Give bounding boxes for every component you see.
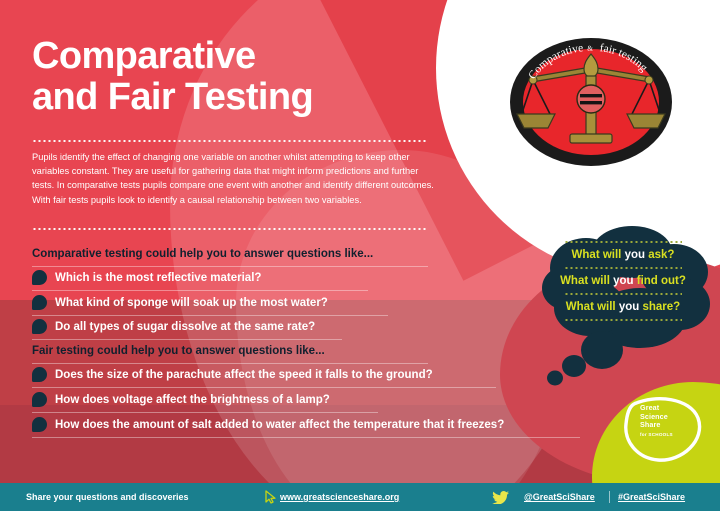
divider-bottom bbox=[32, 228, 428, 230]
list-item: Which is the most reflective material? bbox=[32, 270, 261, 285]
list-item: What kind of sponge will soak up the mos… bbox=[32, 295, 328, 310]
logo-line-3: Share bbox=[640, 421, 673, 430]
logo-text: Great Science Share for SCHOOLS bbox=[640, 404, 673, 439]
list-item: How does the amount of salt added to wat… bbox=[32, 417, 504, 432]
badge-text-amp: & bbox=[587, 44, 593, 53]
footer-share-text: Share your questions and discoveries bbox=[26, 492, 189, 502]
cursor-icon bbox=[265, 490, 277, 504]
list-item: Does the size of the parachute affect th… bbox=[32, 367, 433, 382]
question-rule bbox=[32, 266, 428, 267]
bubble-line-1-post: ask? bbox=[645, 249, 674, 261]
speech-bubble-icon bbox=[32, 367, 47, 382]
logo-subtitle: for SCHOOLS bbox=[640, 431, 673, 440]
bubble-line-2-pre: What will bbox=[560, 275, 613, 287]
bubble-divider bbox=[564, 267, 682, 269]
poster-canvas: Comparative & fair testing Comparative a… bbox=[0, 0, 720, 511]
bubble-line-1: What will you ask? bbox=[540, 244, 706, 266]
thought-bubble-text: What will you ask? What will you find ou… bbox=[540, 226, 706, 322]
title-line-2: and Fair Testing bbox=[32, 77, 452, 118]
twitter-handle-link[interactable]: @GreatSciShare bbox=[524, 492, 595, 502]
question-rule bbox=[32, 315, 388, 316]
fair-testing-heading: Fair testing could help you to answer qu… bbox=[32, 345, 325, 357]
bubble-divider bbox=[564, 293, 682, 295]
speech-bubble-icon bbox=[32, 319, 47, 334]
bubble-line-3-you: you bbox=[619, 301, 639, 313]
balance-scale-icon: Comparative & fair testing bbox=[508, 36, 674, 168]
speech-bubble-icon bbox=[32, 270, 47, 285]
question-text: Does the size of the parachute affect th… bbox=[55, 369, 433, 381]
question-text: Which is the most reflective material? bbox=[55, 272, 261, 284]
list-item: How does voltage affect the brightness o… bbox=[32, 392, 330, 407]
thought-bubble: What will you ask? What will you find ou… bbox=[540, 226, 720, 391]
question-rule bbox=[32, 290, 368, 291]
question-rule bbox=[32, 363, 428, 364]
list-item: Do all types of sugar dissolve at the sa… bbox=[32, 319, 315, 334]
bubble-line-3-post: share? bbox=[639, 301, 680, 313]
page-title: Comparative and Fair Testing bbox=[32, 36, 452, 118]
question-text: Do all types of sugar dissolve at the sa… bbox=[55, 321, 315, 333]
question-text: How does the amount of salt added to wat… bbox=[55, 419, 504, 431]
bubble-line-2-you: you bbox=[613, 275, 633, 287]
question-rule bbox=[32, 387, 496, 388]
question-text: What kind of sponge will soak up the mos… bbox=[55, 297, 328, 309]
footer-bar: Share your questions and discoveries www… bbox=[0, 483, 720, 511]
bubble-line-1-pre: What will bbox=[572, 249, 625, 261]
bubble-line-1-you: you bbox=[625, 249, 645, 261]
title-line-1: Comparative bbox=[32, 36, 452, 77]
question-rule bbox=[32, 412, 378, 413]
speech-bubble-icon bbox=[32, 392, 47, 407]
question-rule bbox=[32, 339, 342, 340]
svg-text:&: & bbox=[587, 44, 593, 53]
question-rule bbox=[32, 437, 580, 438]
twitter-icon bbox=[492, 491, 509, 504]
comparative-fair-testing-badge: Comparative & fair testing bbox=[508, 36, 674, 168]
speech-bubble-icon bbox=[32, 417, 47, 432]
comparative-heading: Comparative testing could help you to an… bbox=[32, 248, 373, 260]
bubble-line-3-pre: What will bbox=[566, 301, 619, 313]
speech-bubble-icon bbox=[32, 295, 47, 310]
bubble-divider bbox=[564, 319, 682, 321]
bubble-divider bbox=[564, 241, 682, 243]
footer-separator bbox=[609, 491, 610, 503]
website-link[interactable]: www.greatscienceshare.org bbox=[280, 492, 399, 502]
question-text: How does voltage affect the brightness o… bbox=[55, 394, 330, 406]
bubble-line-2-post: find out? bbox=[634, 275, 686, 287]
bubble-line-2: What will you find out? bbox=[540, 270, 706, 292]
intro-paragraph: Pupils identify the effect of changing o… bbox=[32, 150, 437, 207]
bubble-line-3: What will you share? bbox=[540, 296, 706, 318]
twitter-hashtag-link[interactable]: #GreatSciShare bbox=[618, 492, 685, 502]
divider-top bbox=[32, 140, 428, 142]
